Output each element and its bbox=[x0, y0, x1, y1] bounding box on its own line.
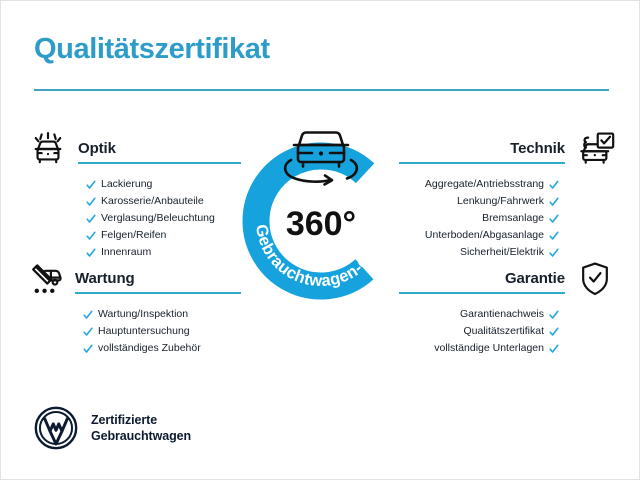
section-title-garantie: Garantie bbox=[399, 270, 565, 288]
list-item: Verglasung/Beleuchtung bbox=[86, 210, 241, 227]
car-front-lights-icon bbox=[26, 129, 70, 169]
list-item-label: Hauptuntersuchung bbox=[98, 323, 190, 340]
section-title-wartung: Wartung bbox=[75, 270, 241, 288]
check-icon bbox=[83, 344, 93, 354]
check-icon bbox=[549, 248, 559, 258]
section-divider-technik bbox=[399, 162, 565, 164]
check-icon bbox=[83, 310, 93, 320]
section-divider-wartung bbox=[75, 292, 241, 294]
check-icon bbox=[549, 310, 559, 320]
list-item: Qualitätszertifikat bbox=[399, 323, 559, 340]
list-item-label: Verglasung/Beleuchtung bbox=[101, 210, 215, 227]
checklist-garantie: Garantienachweis Qualitätszertifikat vol… bbox=[399, 306, 617, 357]
list-item: Felgen/Reifen bbox=[86, 227, 241, 244]
list-item-label: Qualitätszertifikat bbox=[463, 323, 544, 340]
footer-line-1: Zertifizierte bbox=[91, 412, 191, 428]
footer-brand: Zertifizierte Gebrauchtwagen bbox=[34, 406, 191, 450]
section-technik: Technik Aggregate/Antriebsstrang Lenkung… bbox=[399, 129, 617, 261]
list-item: Karosserie/Anbauteile bbox=[86, 193, 241, 210]
list-item-label: Aggregate/Antriebsstrang bbox=[425, 176, 544, 193]
check-icon bbox=[86, 231, 96, 241]
section-optik: Optik Lackierung Karosserie/Anbauteile bbox=[26, 129, 241, 261]
list-item-label: Garantienachweis bbox=[460, 306, 544, 323]
car-service-probe-icon bbox=[23, 259, 67, 299]
checklist-technik: Aggregate/Antriebsstrang Lenkung/Fahrwer… bbox=[399, 176, 617, 261]
list-item-label: Lenkung/Fahrwerk bbox=[457, 193, 544, 210]
list-item-label: vollständiges Zubehör bbox=[98, 340, 201, 357]
section-title-technik: Technik bbox=[399, 140, 565, 158]
list-item: Lenkung/Fahrwerk bbox=[399, 193, 559, 210]
section-divider-garantie bbox=[399, 292, 565, 294]
list-item: Unterboden/Abgasanlage bbox=[399, 227, 559, 244]
check-icon bbox=[549, 327, 559, 337]
checklist-optik: Lackierung Karosserie/Anbauteile Verglas… bbox=[26, 176, 241, 261]
list-item: Wartung/Inspektion bbox=[83, 306, 241, 323]
list-item-label: Wartung/Inspektion bbox=[98, 306, 188, 323]
check-icon bbox=[86, 180, 96, 190]
car-checklist-icon bbox=[573, 129, 617, 169]
check-icon bbox=[549, 180, 559, 190]
check-icon bbox=[86, 197, 96, 207]
list-item-label: vollständige Unterlagen bbox=[434, 340, 544, 357]
list-item: Aggregate/Antriebsstrang bbox=[399, 176, 559, 193]
list-item: Lackierung bbox=[86, 176, 241, 193]
volkswagen-logo bbox=[34, 406, 78, 450]
list-item: Hauptuntersuchung bbox=[83, 323, 241, 340]
badge-value: 360° bbox=[286, 205, 356, 243]
check-icon bbox=[83, 327, 93, 337]
list-item-label: Lackierung bbox=[101, 176, 152, 193]
certificate-page: Qualitätszertifikat bbox=[0, 0, 640, 480]
section-wartung: Wartung Wartung/Inspektion Hauptuntersuc… bbox=[23, 259, 241, 357]
check-icon bbox=[86, 248, 96, 258]
list-item-label: Bremsanlage bbox=[482, 210, 544, 227]
section-divider-optik bbox=[78, 162, 241, 164]
page-title: Qualitätszertifikat bbox=[34, 33, 270, 66]
badge-360-gebrauchtwagen-check: Gebrauchtwagen-Check 360° bbox=[233, 117, 409, 313]
list-item: vollständige Unterlagen bbox=[399, 340, 559, 357]
list-item: vollständiges Zubehör bbox=[83, 340, 241, 357]
section-title-optik: Optik bbox=[78, 140, 241, 158]
check-icon bbox=[549, 214, 559, 224]
section-garantie: Garantie Garantienachweis Qualitätszerti… bbox=[399, 259, 617, 357]
footer-line-2: Gebrauchtwagen bbox=[91, 428, 191, 444]
check-icon bbox=[549, 231, 559, 241]
list-item-label: Felgen/Reifen bbox=[101, 227, 166, 244]
shield-check-icon bbox=[573, 259, 617, 299]
check-icon bbox=[549, 197, 559, 207]
list-item: Garantienachweis bbox=[399, 306, 559, 323]
list-item-label: Unterboden/Abgasanlage bbox=[425, 227, 544, 244]
list-item-label: Karosserie/Anbauteile bbox=[101, 193, 204, 210]
check-icon bbox=[549, 344, 559, 354]
checklist-wartung: Wartung/Inspektion Hauptuntersuchung vol… bbox=[23, 306, 241, 357]
check-icon bbox=[86, 214, 96, 224]
header-divider bbox=[34, 89, 609, 91]
list-item: Bremsanlage bbox=[399, 210, 559, 227]
